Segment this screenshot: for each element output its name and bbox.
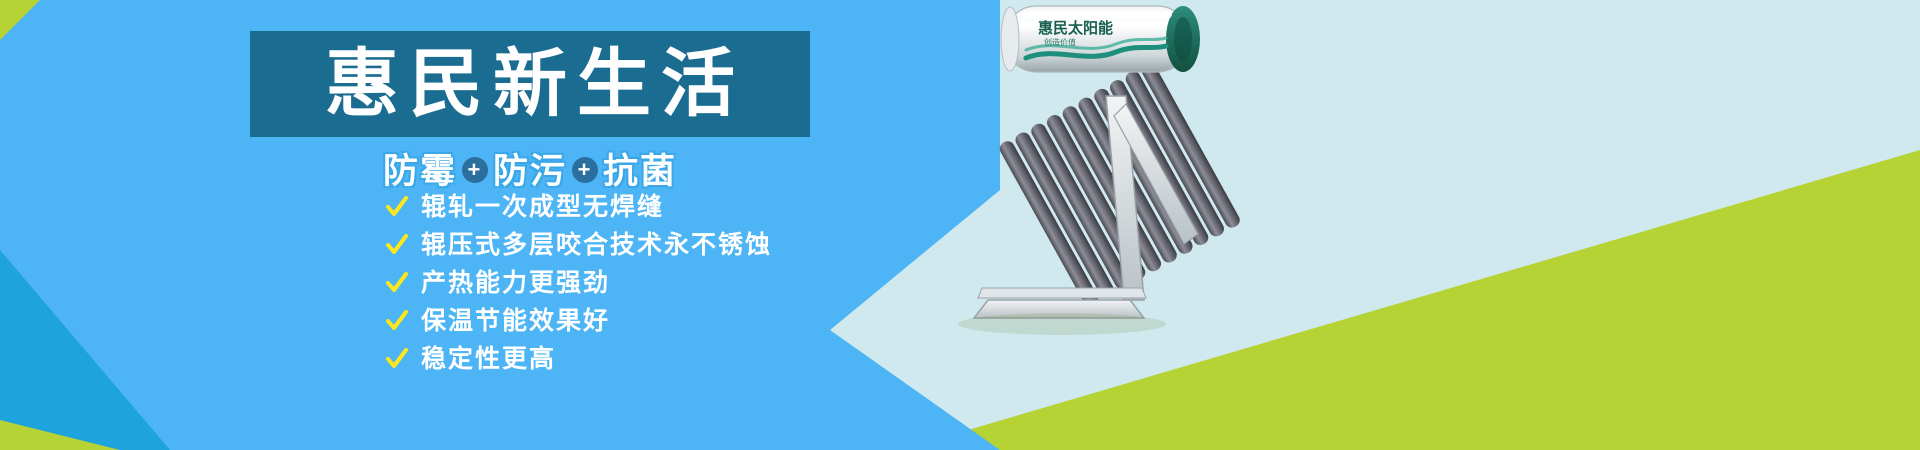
plus-icon: + (462, 157, 488, 183)
page-title: 惠民新生活 (315, 47, 745, 121)
feature-label: 产热能力更强劲 (421, 271, 610, 296)
plus-icon: + (572, 157, 598, 183)
check-icon (385, 233, 409, 257)
water-tank: 惠民太阳能 创造价值 (1001, 6, 1200, 72)
list-item: 产热能力更强劲 (385, 268, 772, 298)
check-icon (385, 309, 409, 333)
check-icon (385, 195, 409, 219)
feature-label: 辊压式多层咬合技术永不锈蚀 (421, 233, 772, 258)
headline-block: 惠民新生活 (250, 31, 810, 137)
list-item: 保温节能效果好 (385, 306, 772, 336)
check-icon (385, 347, 409, 371)
tank-brand-label: 惠民太阳能 (1038, 19, 1113, 37)
tank-brand-sublabel: 创造价值 (1044, 37, 1076, 47)
subtitle: 防霉+防污+抗菌 (250, 143, 810, 194)
list-item: 辊轧一次成型无焊缝 (385, 192, 772, 222)
product-shadow (958, 313, 1166, 335)
solar-water-heater-illustration: 惠民太阳能 创造价值 (930, 0, 1290, 360)
check-icon (385, 271, 409, 295)
list-item: 稳定性更高 (385, 344, 772, 374)
feature-label: 辊轧一次成型无焊缝 (421, 195, 664, 220)
subtitle-part-3: 抗菌 (603, 152, 677, 191)
product-image: 惠民太阳能 创造价值 (930, 0, 1290, 360)
list-item: 辊压式多层咬合技术永不锈蚀 (385, 230, 772, 260)
subtitle-part-1: 防霉 (383, 152, 457, 191)
feature-label: 保温节能效果好 (421, 309, 610, 334)
feature-list: 辊轧一次成型无焊缝 辊压式多层咬合技术永不锈蚀 产热能力更强劲 保温节能效果好 (385, 192, 772, 374)
feature-label: 稳定性更高 (421, 347, 556, 372)
subtitle-part-2: 防污 (493, 152, 567, 191)
promo-banner: 惠民新生活 防霉+防污+抗菌 辊轧一次成型无焊缝 辊压式多层咬合技术永不锈蚀 产… (0, 0, 1920, 450)
